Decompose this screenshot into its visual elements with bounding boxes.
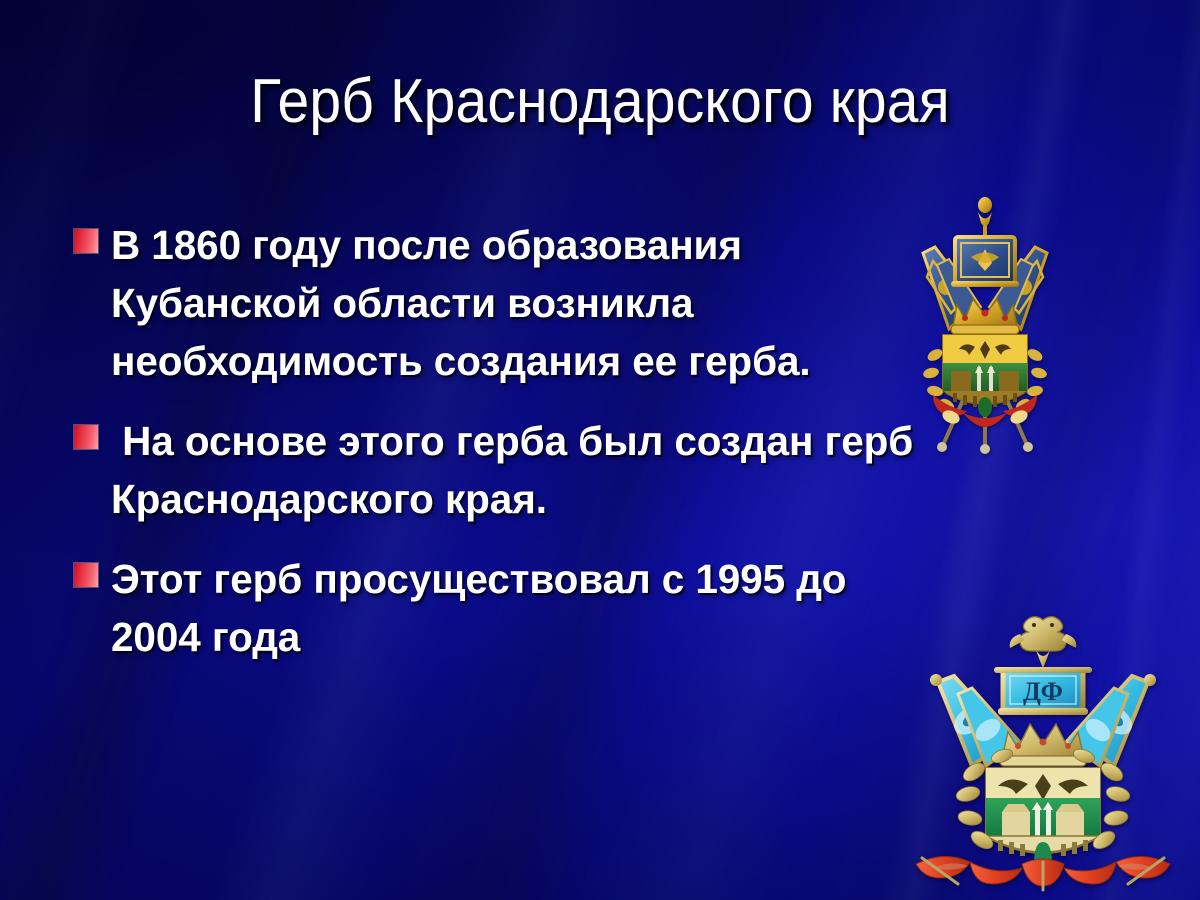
slide-canvas: Герб Краснодарского края В 1860 году пос… xyxy=(0,0,1200,900)
slide-title: Герб Краснодарского края xyxy=(48,70,1152,134)
banner-monogram: ДФ xyxy=(1023,677,1063,706)
bullet-text: Этот герб просуществовал с 1995 до 2004 … xyxy=(111,550,946,666)
red-square-bullet-icon xyxy=(74,229,98,253)
list-item: В 1860 году после образования Кубанской … xyxy=(66,216,946,390)
bullet-text: В 1860 году после образования Кубанской … xyxy=(111,216,946,390)
list-item: Этот герб просуществовал с 1995 до 2004 … xyxy=(66,550,946,666)
bullet-text: На основе этого герба был создан герб Кр… xyxy=(111,412,946,528)
coat-of-arms-krasnodar-krai-1995-image: ДФ xyxy=(898,612,1188,897)
red-square-bullet-icon xyxy=(74,563,98,587)
red-square-bullet-icon xyxy=(74,425,98,449)
bullet-list: В 1860 году после образования Кубанской … xyxy=(66,216,946,666)
list-item: На основе этого герба был создан герб Кр… xyxy=(66,412,946,528)
coat-of-arms-krasnodar-krai-modern-image xyxy=(905,195,1065,470)
